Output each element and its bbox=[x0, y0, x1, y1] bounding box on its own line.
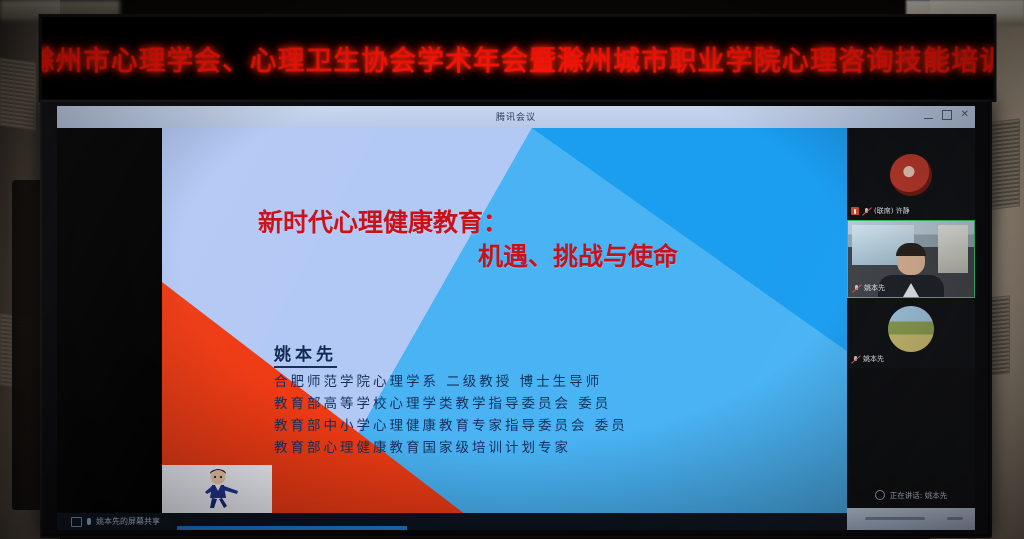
wall-vent bbox=[0, 57, 36, 130]
participant-label: 姚本先 bbox=[852, 283, 885, 293]
participant-tile[interactable]: (联席) 许静 bbox=[847, 128, 975, 220]
presentation-slide: 新时代心理健康教育： 机遇、挑战与使命 姚本先 合肥师范学院心理学系 二级教授 … bbox=[162, 128, 847, 513]
avatar bbox=[888, 306, 934, 352]
display-screen-bezel: 腾讯会议 ✕ bbox=[40, 100, 992, 538]
shared-screen-area[interactable]: 新时代心理健康教育： 机遇、挑战与使命 姚本先 合肥师范学院心理学系 二级教授 … bbox=[57, 128, 847, 530]
slide-credential: 合肥师范学院心理学系 二级教授 博士生导师 bbox=[274, 372, 744, 394]
slide-title-line2: 机遇、挑战与使命 bbox=[258, 240, 778, 274]
participant-label: 姚本先 bbox=[851, 354, 884, 364]
mic-muted-icon bbox=[862, 207, 871, 216]
participant-label: (联席) 许静 bbox=[851, 206, 910, 216]
slide-speaker-name: 姚本先 bbox=[274, 340, 337, 368]
speaking-status: 正在讲话: 姚本先 bbox=[847, 486, 975, 504]
toolbar-control[interactable] bbox=[947, 517, 963, 520]
slide-credential: 教育部高等学校心理学类教学指导委员会 委员 bbox=[274, 394, 744, 416]
screen-share-label: 姚本先的屏幕共享 bbox=[96, 516, 160, 527]
participant-name: 姚本先 bbox=[864, 283, 885, 293]
slide-credential: 教育部心理健康教育国家级培训计划专家 bbox=[274, 438, 744, 460]
avatar bbox=[890, 154, 932, 196]
speaker-icon bbox=[875, 490, 885, 500]
led-banner-text: 滁州市心理学会、心理卫生协会学术年会暨滁州城市职业学院心理咨询技能培训 bbox=[39, 38, 997, 77]
slide-title-line1: 新时代心理健康教育： bbox=[258, 208, 508, 237]
meeting-toolbar[interactable] bbox=[847, 508, 975, 530]
toolbar-control[interactable] bbox=[865, 517, 925, 520]
participant-tile-active-speaker[interactable]: 姚本先 bbox=[847, 220, 975, 298]
minimize-icon[interactable] bbox=[924, 118, 933, 119]
close-icon[interactable]: ✕ bbox=[961, 109, 969, 121]
participant-rail: (联席) 许静 姚本先 bbox=[847, 128, 975, 530]
display-screen: 腾讯会议 ✕ bbox=[57, 106, 975, 530]
participant-name: 姚本先 bbox=[863, 354, 884, 364]
screen-share-indicator-bar: 姚本先的屏幕共享 bbox=[57, 513, 861, 530]
participant-tile[interactable]: 姚本先 bbox=[847, 298, 975, 368]
meeting-window-titlebar: 腾讯会议 ✕ bbox=[57, 106, 975, 128]
slide-speaker-block: 姚本先 合肥师范学院心理学系 二级教授 博士生导师 教育部高等学校心理学类教学指… bbox=[274, 340, 744, 459]
screen-icon bbox=[71, 517, 82, 527]
led-banner: 滁州市心理学会、心理卫生协会学术年会暨滁州城市职业学院心理咨询技能培训 bbox=[39, 14, 997, 102]
maximize-icon[interactable] bbox=[942, 110, 952, 120]
mic-muted-icon bbox=[851, 355, 860, 364]
speaking-status-label: 正在讲话: 姚本先 bbox=[890, 490, 947, 501]
slide-credential: 教育部中小学心理健康教育专家指导委员会 委员 bbox=[274, 416, 744, 438]
window-controls: ✕ bbox=[924, 109, 969, 121]
mic-active-icon bbox=[851, 207, 859, 215]
participant-name: (联席) 许静 bbox=[874, 206, 910, 216]
mic-muted-icon bbox=[852, 284, 861, 293]
slide-title: 新时代心理健康教育： 机遇、挑战与使命 bbox=[258, 206, 778, 274]
cartoon-person-icon bbox=[198, 467, 240, 509]
conference-room-photo: 滁州市心理学会、心理卫生协会学术年会暨滁州城市职业学院心理咨询技能培训 腾讯会议… bbox=[0, 0, 1024, 539]
meeting-window-title: 腾讯会议 bbox=[496, 110, 536, 123]
mic-icon bbox=[87, 518, 91, 525]
share-progress-accent bbox=[177, 526, 407, 530]
